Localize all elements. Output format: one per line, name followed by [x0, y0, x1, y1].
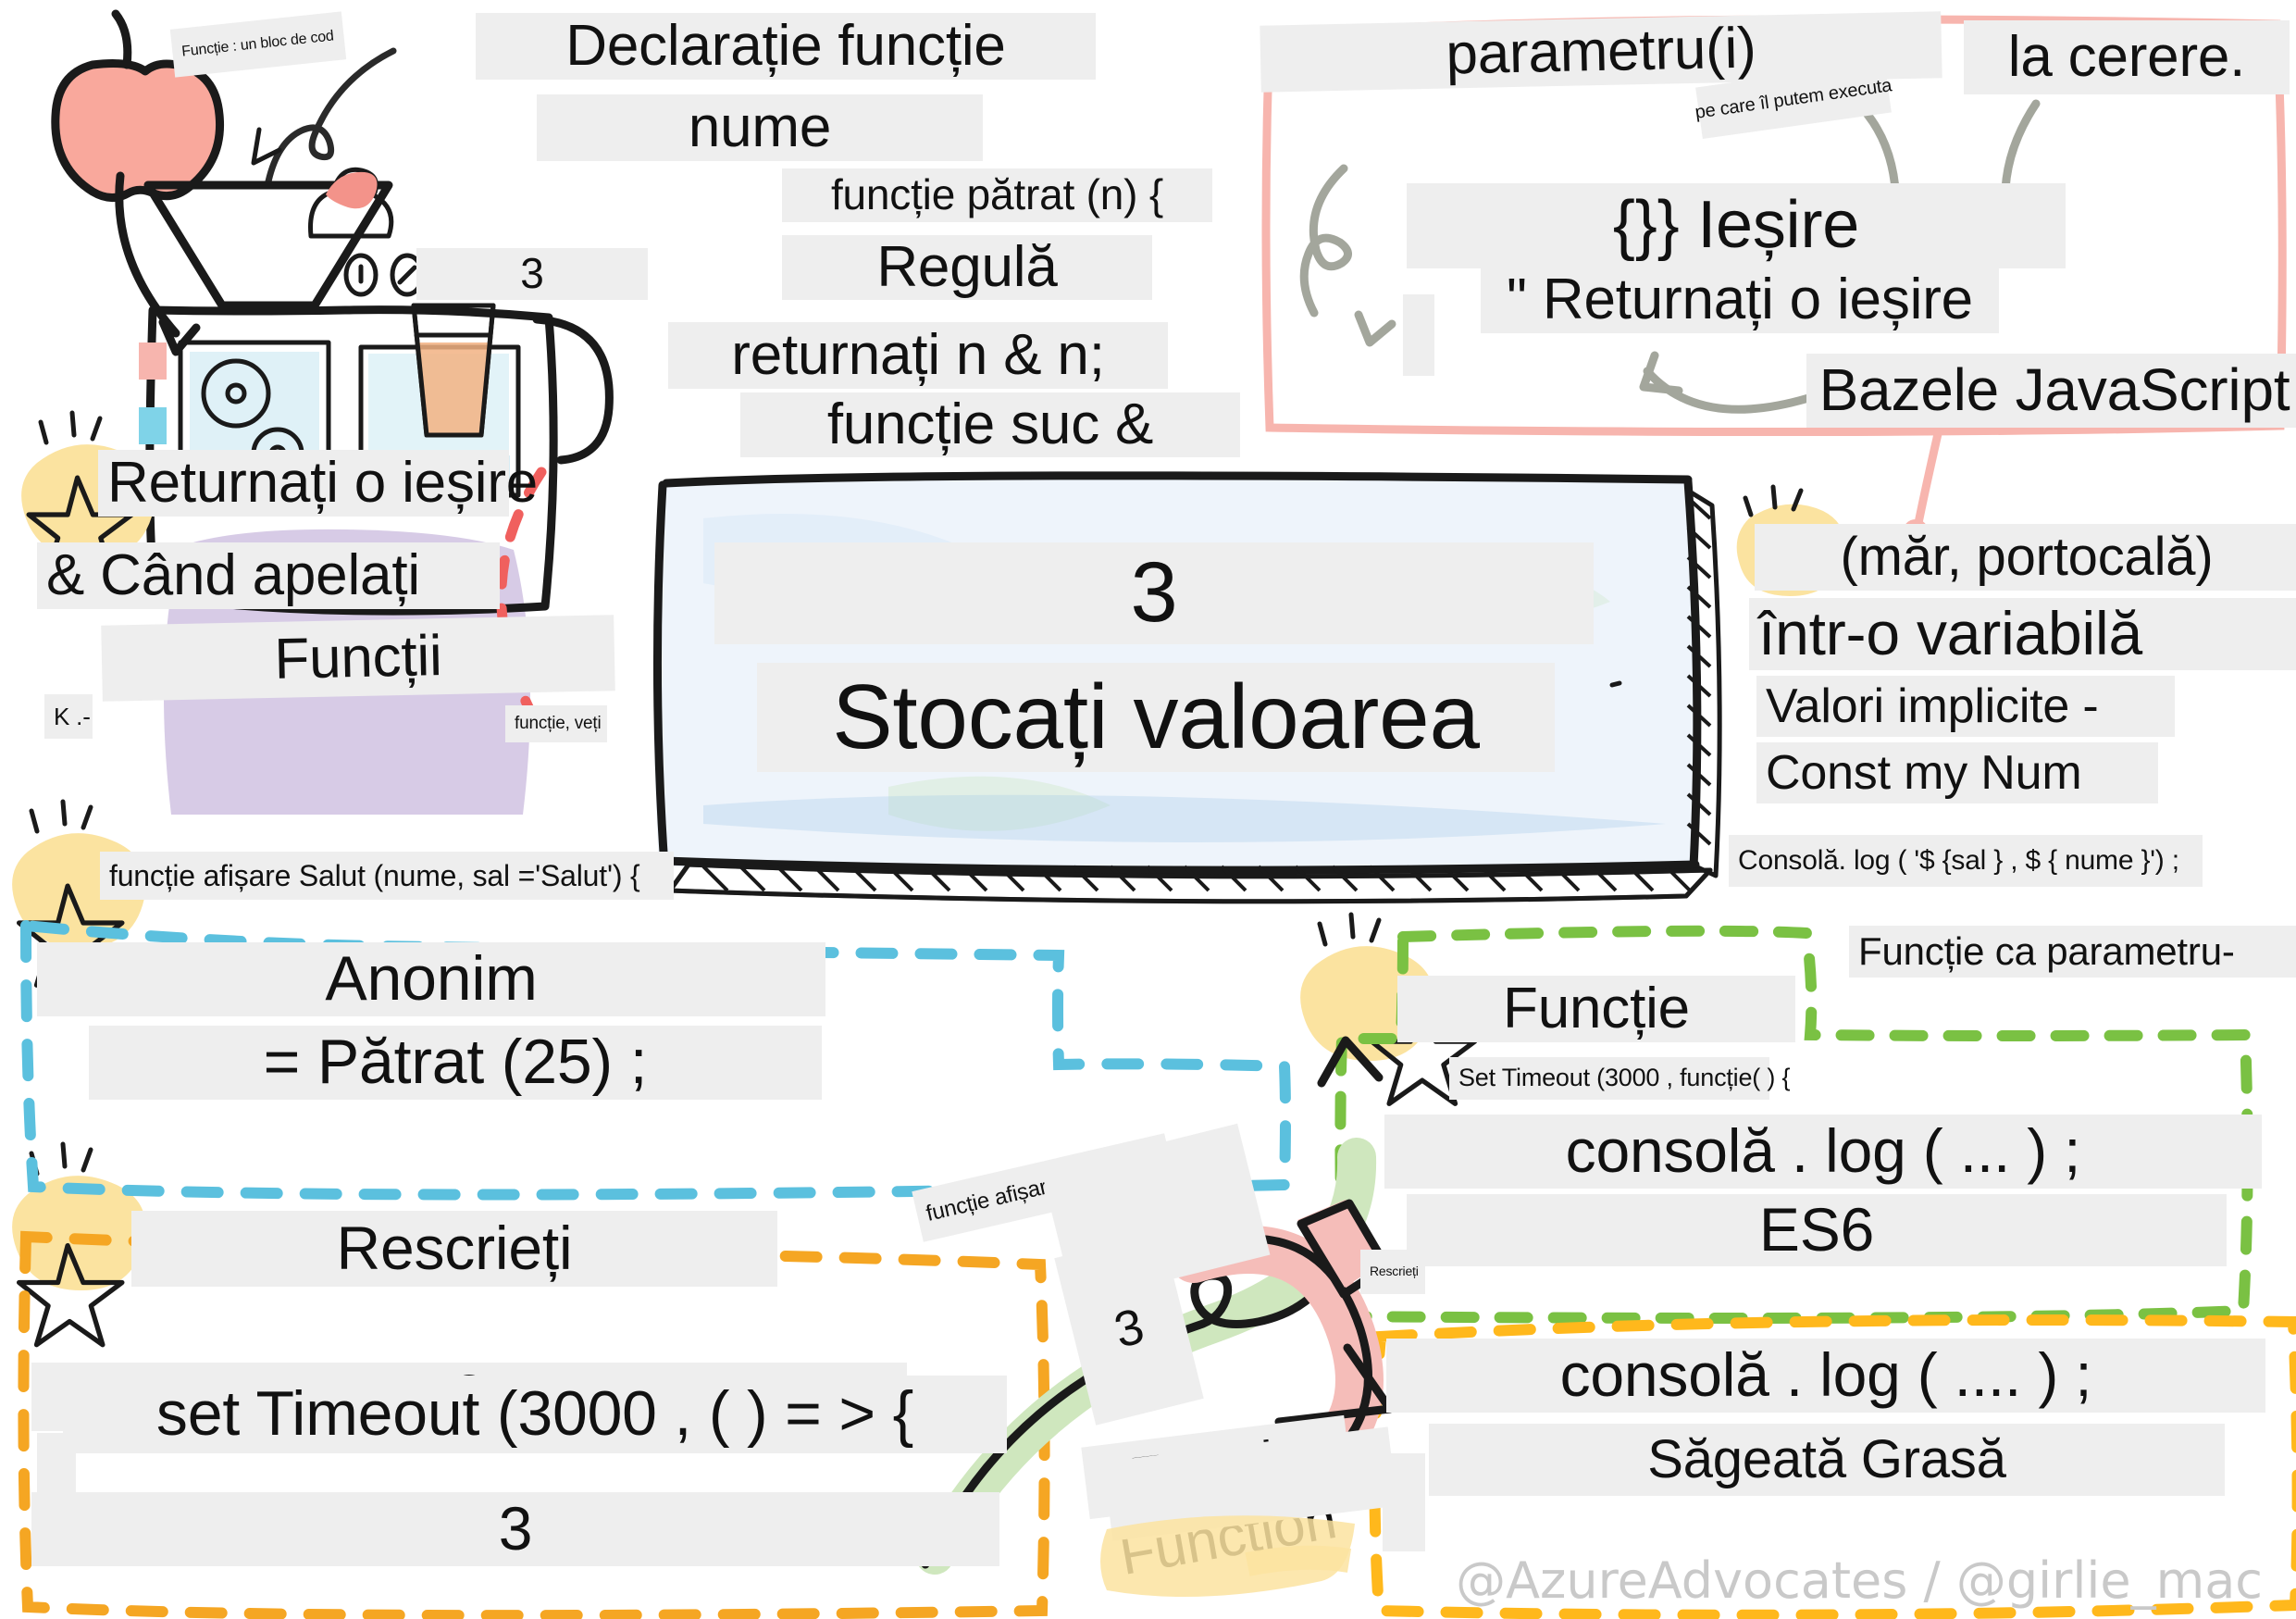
- arrow-gray-curl: [1304, 168, 1347, 313]
- js-basics-label: Bazele JavaScript: [1806, 354, 2296, 428]
- function-title-green: Funcție: [1397, 976, 1795, 1042]
- rewrite-label: Rescrieți: [131, 1211, 777, 1287]
- pink-panel-blank-1: [1403, 294, 1434, 376]
- es6-label: ES6: [1407, 1194, 2227, 1266]
- set-timeout-code-green: Set Timeout (3000 , funcție( ) {: [1449, 1057, 1769, 1100]
- when-call-label: & Când apelați: [37, 542, 500, 609]
- rule-label: Regulă: [782, 235, 1152, 300]
- apple-caption: Funcție : un bloc de cod: [170, 11, 346, 77]
- functie-veti-fragment: funcție, veți: [505, 705, 607, 742]
- return-n-code: returnați n & n;: [668, 322, 1168, 389]
- on-demand-label: la cerere.: [1964, 20, 2290, 94]
- k-dash-fragment: K .-: [44, 694, 93, 739]
- misc-blank-pink-panel: [2173, 481, 2191, 496]
- set-timeout-arrow-code: set Timeout (3000 , ( ) = > {: [63, 1376, 1007, 1453]
- name-label: nume: [537, 94, 983, 161]
- console-log-green: consolă . log ( ... ) ;: [1384, 1115, 2262, 1189]
- fat-arrow-label: Săgeată Grasă: [1429, 1424, 2225, 1496]
- function-suc-code: funcție suc &: [740, 392, 1240, 457]
- number-3-bottom: 3: [31, 1492, 999, 1566]
- return-output-quote: " Returnați o ieșire: [1481, 267, 1999, 333]
- greet-function-code: funcție afișare Salut (nume, sal ='Salut…: [100, 852, 674, 900]
- center-blank-1: [1042, 1124, 1271, 1303]
- arrow-curl-top: [268, 51, 393, 181]
- sketchnote-canvas: .ink{fill:none;stroke:#1a1a1a;stroke-wid…: [0, 0, 2296, 1619]
- square-25-code: = Pătrat (25) ;: [89, 1026, 822, 1100]
- console-log-orange: consolă . log ( .... ) ;: [1386, 1339, 2265, 1413]
- const-my-num-label: Const my Num: [1756, 742, 2158, 803]
- apple-orange-label: (măr, portocală): [1755, 524, 2296, 591]
- function-as-parameter-label: Funcție ca parametru-: [1849, 926, 2296, 978]
- number-3-top: 3: [416, 248, 648, 300]
- console-log-template-code: Consolă. log ( '$ {sal } , $ { nume }') …: [1729, 835, 2203, 887]
- default-values-label: Valori implicite -: [1756, 676, 2175, 737]
- main-card-step-number: 3: [714, 542, 1594, 644]
- star-icon-3: [12, 1144, 145, 1345]
- function-square-code: funcție pătrat (n) {: [782, 168, 1212, 222]
- arrow-apple-to-machine: [119, 176, 176, 333]
- into-variable-label: într-o variabilă: [1749, 598, 2296, 670]
- output-brace-label: {}} Ieșire: [1407, 183, 2066, 268]
- declaration-title: Declarație funcție: [476, 13, 1096, 80]
- main-card-heading: Stocați valoarea: [757, 663, 1555, 772]
- anonymous-label: Anonim: [37, 942, 825, 1016]
- bottom-left-blank-1: [37, 1433, 76, 1522]
- arrow-gray-up-left: [1647, 371, 1823, 409]
- watermark: @AzureAdvocates / @girlie_mac: [1456, 1551, 2263, 1610]
- pink-connector: [1917, 426, 1940, 528]
- rescrieti-tiny-fragment: Rescrieți: [1360, 1250, 1425, 1294]
- functions-label: Funcții: [101, 615, 615, 702]
- juice-glass-icon: [414, 305, 493, 435]
- return-output-label: Returnați o ieșire: [98, 450, 509, 517]
